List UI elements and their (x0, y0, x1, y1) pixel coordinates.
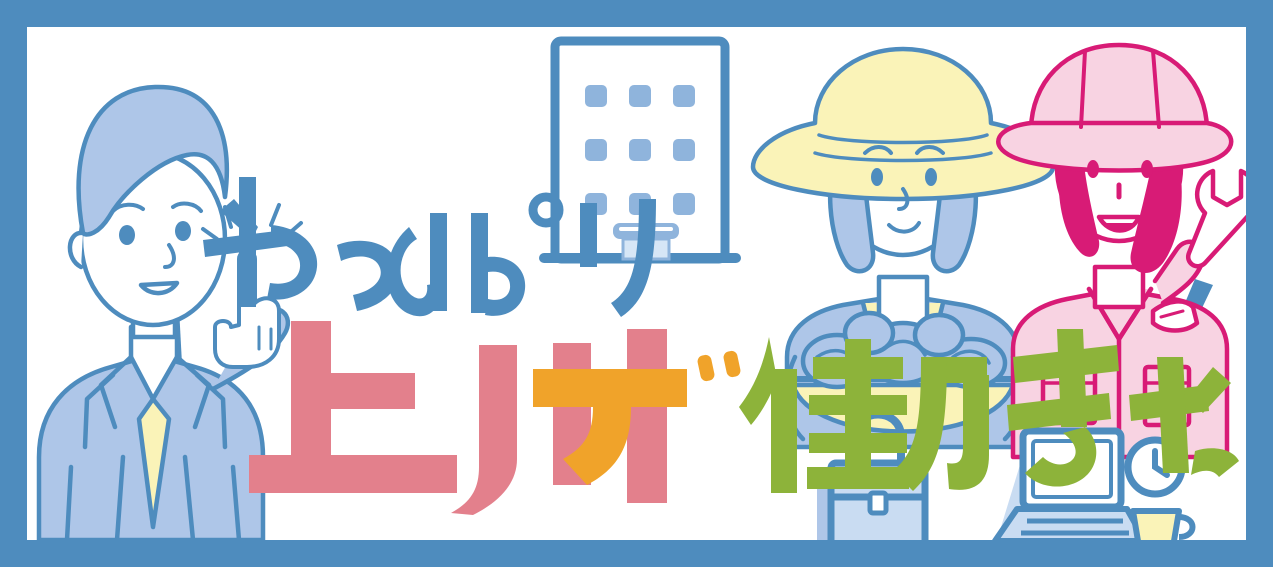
headline-segment-hatarakitai (739, 329, 1239, 539)
banner-frame: やっぱり上川で働きたい！ Yappari Kamikawa de hatarak… (0, 0, 1273, 567)
headline-segment-yappari (203, 177, 656, 317)
banner-canvas: やっぱり上川で働きたい！ Yappari Kamikawa de hatarak… (27, 27, 1246, 540)
headline-layer (27, 27, 1246, 540)
